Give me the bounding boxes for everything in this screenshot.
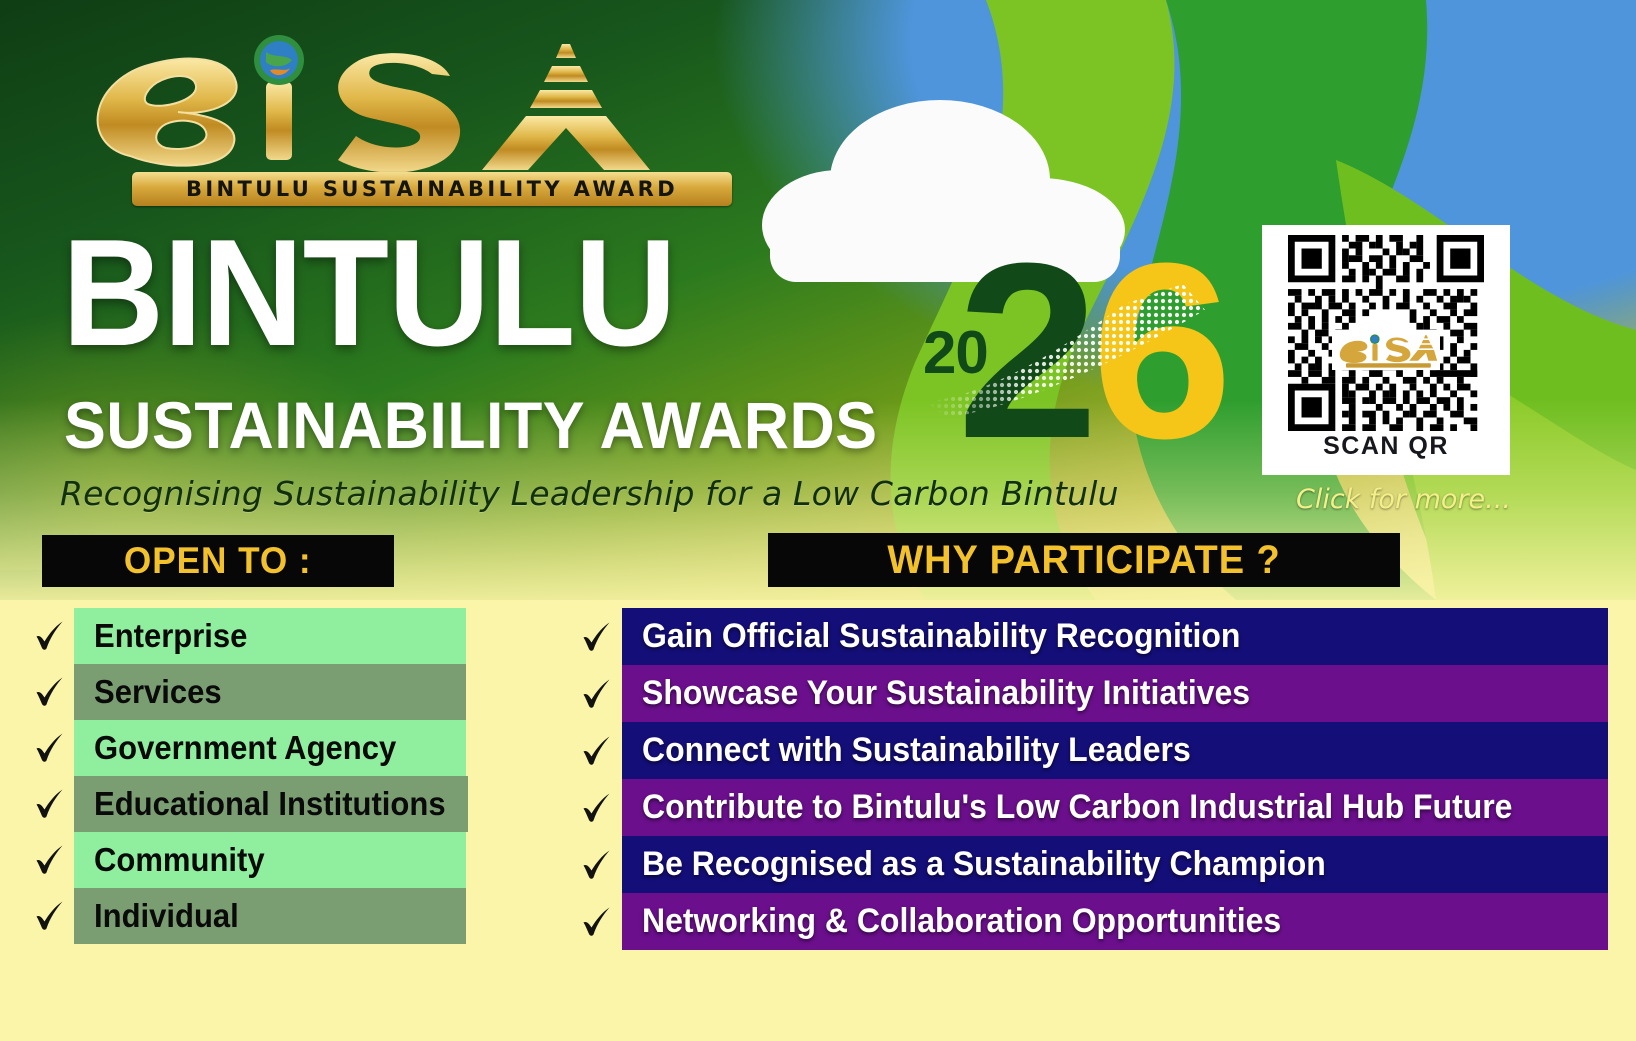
check-icon: [572, 722, 622, 779]
open-to-banner: OPEN TO :: [42, 535, 394, 587]
why-participate-item: Be Recognised as a Sustainability Champi…: [572, 836, 1608, 893]
why-participate-item-label: Connect with Sustainability Leaders: [642, 731, 1191, 770]
open-to-item-pill: Educational Institutions: [74, 776, 468, 832]
logo-band-text: BINTULU SUSTAINABILITY AWARD: [186, 177, 678, 201]
check-icon: [26, 888, 74, 944]
check-icon: [26, 832, 74, 888]
poster-canvas: BINTULU SUSTAINABILITY AWARD BINTULU SUS…: [0, 0, 1636, 1041]
open-to-item-label: Individual: [94, 897, 239, 935]
open-to-banner-text: OPEN TO :: [124, 540, 312, 582]
check-icon: [26, 720, 74, 776]
open-to-item-pill: Services: [74, 664, 466, 720]
bisa-logo-mark: [70, 24, 690, 174]
halftone-streak-icon: [915, 284, 1215, 424]
bisa-logo-icon: [1334, 332, 1438, 368]
open-to-item-pill: Government Agency: [74, 720, 466, 776]
open-to-item: Individual: [26, 888, 466, 944]
qr-embedded-logo: [1332, 330, 1440, 370]
why-participate-item-pill: Gain Official Sustainability Recognition: [622, 608, 1608, 665]
check-icon: [572, 665, 622, 722]
logo-band: BINTULU SUSTAINABILITY AWARD: [132, 172, 732, 206]
page-subtitle: SUSTAINABILITY AWARDS: [64, 392, 878, 458]
why-participate-item: Gain Official Sustainability Recognition: [572, 608, 1608, 665]
why-participate-item-label: Networking & Collaboration Opportunities: [642, 902, 1281, 941]
why-participate-list: Gain Official Sustainability Recognition…: [572, 608, 1608, 950]
open-to-item-pill: Individual: [74, 888, 466, 944]
why-participate-item-pill: Contribute to Bintulu's Low Carbon Indus…: [622, 779, 1608, 836]
open-to-item: Enterprise: [26, 608, 466, 664]
why-participate-item: Showcase Your Sustainability Initiatives: [572, 665, 1608, 722]
why-participate-item-pill: Networking & Collaboration Opportunities: [622, 893, 1608, 950]
page-title: BINTULU: [62, 228, 676, 359]
why-participate-item-label: Contribute to Bintulu's Low Carbon Indus…: [642, 788, 1512, 827]
open-to-item-label: Educational Institutions: [94, 785, 446, 823]
check-icon: [572, 893, 622, 950]
qr-caption: SCAN QR: [1323, 432, 1449, 461]
why-participate-item-label: Be Recognised as a Sustainability Champi…: [642, 845, 1326, 884]
open-to-item-label: Community: [94, 841, 265, 879]
why-participate-banner: WHY PARTICIPATE ?: [768, 533, 1400, 587]
why-participate-item: Connect with Sustainability Leaders: [572, 722, 1608, 779]
qr-click-for-more[interactable]: Click for more...: [1296, 484, 1511, 515]
why-participate-item-pill: Be Recognised as a Sustainability Champi…: [622, 836, 1608, 893]
why-participate-item: Contribute to Bintulu's Low Carbon Indus…: [572, 779, 1608, 836]
open-to-item: Government Agency: [26, 720, 466, 776]
year-badge: 2 6 20: [905, 232, 1215, 500]
qr-card[interactable]: SCAN QR: [1262, 225, 1510, 475]
bisa-logo: BINTULU SUSTAINABILITY AWARD: [70, 24, 690, 219]
check-icon: [572, 608, 622, 665]
check-icon: [26, 664, 74, 720]
open-to-item-label: Government Agency: [94, 729, 396, 767]
check-icon: [572, 779, 622, 836]
why-participate-item-label: Showcase Your Sustainability Initiatives: [642, 674, 1250, 713]
open-to-item: Services: [26, 664, 466, 720]
open-to-item-pill: Enterprise: [74, 608, 466, 664]
why-participate-item-label: Gain Official Sustainability Recognition: [642, 617, 1240, 656]
open-to-item-label: Services: [94, 673, 222, 711]
check-icon: [26, 608, 74, 664]
why-participate-item: Networking & Collaboration Opportunities: [572, 893, 1608, 950]
open-to-item-pill: Community: [74, 832, 466, 888]
open-to-item-label: Enterprise: [94, 617, 247, 655]
open-to-item: Educational Institutions: [26, 776, 466, 832]
why-participate-item-pill: Connect with Sustainability Leaders: [622, 722, 1608, 779]
open-to-item: Community: [26, 832, 466, 888]
check-icon: [572, 836, 622, 893]
check-icon: [26, 776, 74, 832]
open-to-list: EnterpriseServicesGovernment AgencyEduca…: [26, 608, 466, 944]
why-participate-banner-text: WHY PARTICIPATE ?: [887, 538, 1280, 583]
why-participate-item-pill: Showcase Your Sustainability Initiatives: [622, 665, 1608, 722]
